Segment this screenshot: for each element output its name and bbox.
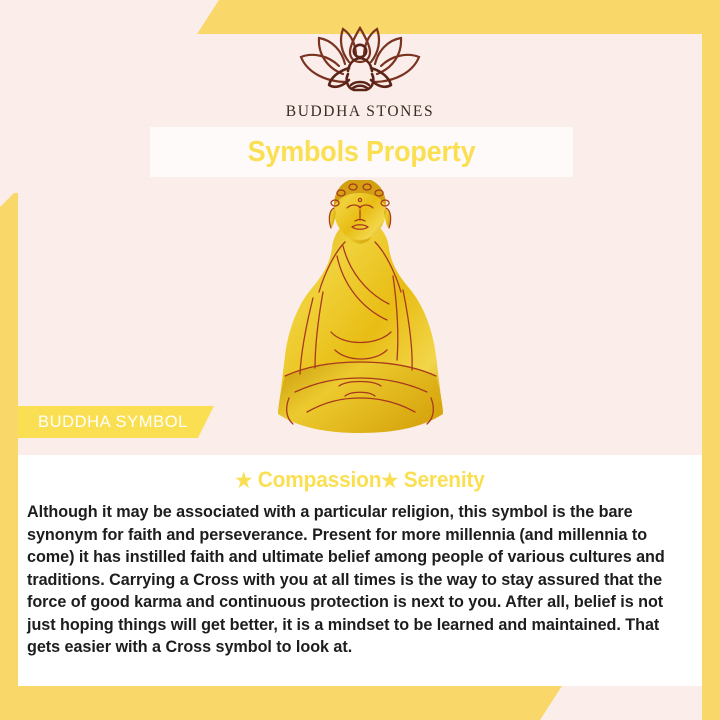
content-card: ★ Compassion★ Serenity Although it may b… bbox=[18, 455, 702, 686]
lotus-meditation-icon bbox=[285, 24, 435, 96]
subtitle-serenity: Serenity bbox=[398, 467, 485, 492]
poster-root: BUDDHA STONES Symbols Property bbox=[0, 0, 720, 720]
hero-image bbox=[0, 180, 720, 442]
status-badge: BUDDHA SYMBOL bbox=[18, 406, 214, 438]
content-body: Although it may be associated with a par… bbox=[27, 501, 668, 659]
seated-buddha-illustration bbox=[273, 180, 448, 442]
star-icon-right: ★ bbox=[381, 470, 398, 492]
subtitle-compassion: Compassion bbox=[252, 467, 381, 492]
brand-logo: BUDDHA STONES bbox=[0, 24, 720, 121]
content-subtitle: ★ Compassion★ Serenity bbox=[35, 467, 685, 493]
brand-name: BUDDHA STONES bbox=[286, 103, 434, 121]
page-title: Symbols Property bbox=[165, 127, 558, 177]
badge-label: BUDDHA SYMBOL bbox=[38, 413, 188, 432]
star-icon-left: ★ bbox=[235, 470, 252, 492]
bottom-frame-band bbox=[0, 686, 562, 720]
